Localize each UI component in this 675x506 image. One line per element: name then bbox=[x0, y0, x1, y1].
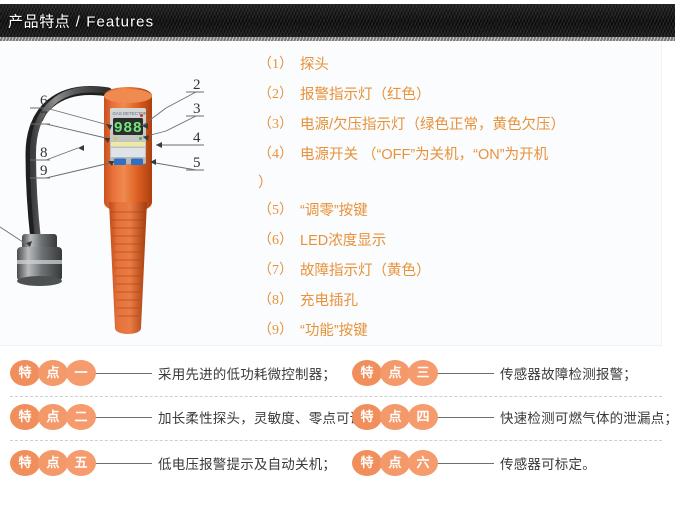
legend-number: （9） bbox=[258, 316, 300, 346]
feature-item-5: 特 点 五 低电压报警提示及自动关机； bbox=[10, 442, 350, 484]
gas-detector-illustration: GAS DETECTOR 988 bbox=[0, 44, 250, 340]
badge-char-te: 特 bbox=[10, 450, 40, 476]
legend-label: 充电插孔 bbox=[300, 286, 358, 316]
feature-item-1: 特 点 一 采用先进的低功耗微控制器； bbox=[10, 352, 350, 394]
badge-char-te: 特 bbox=[10, 404, 40, 430]
legend-label: 故障指示灯（黄色） bbox=[300, 256, 431, 286]
callout-number-4: 4 bbox=[193, 130, 201, 146]
badge-char-te: 特 bbox=[352, 404, 382, 430]
list-item: （1） 探头 bbox=[258, 50, 673, 80]
device-label-strip bbox=[111, 142, 145, 147]
badge-char-ordinal: 三 bbox=[408, 360, 438, 386]
function-button[interactable] bbox=[131, 159, 143, 166]
component-legend-list: （1） 探头 （2） 报警指示灯（红色） （3） 电源/欠压指示灯（绿色正常，黄… bbox=[258, 50, 673, 346]
feature-row: 特 点 一 采用先进的低功耗微控制器； 特 点 三 传感器故障检测报警； bbox=[0, 352, 675, 394]
legend-label: 电源开关 （“OFF”为关机，“ON”为开机 bbox=[300, 140, 548, 170]
probe-sensor-tip bbox=[17, 234, 62, 286]
section-header-banner: 产品特点 / Features bbox=[0, 4, 675, 37]
feature-text: 加长柔性探头，灵敏度、零点可调； bbox=[158, 407, 377, 427]
legend-number: （4） bbox=[258, 140, 300, 170]
legend-number: （2） bbox=[258, 80, 300, 110]
feature-badge: 特 点 五 bbox=[10, 450, 96, 476]
feature-text: 快速检测可燃气体的泄漏点； bbox=[500, 407, 675, 427]
list-item: （8） 充电插孔 bbox=[258, 286, 673, 316]
feature-leader-line bbox=[436, 463, 494, 464]
feature-text: 低电压报警提示及自动关机； bbox=[158, 453, 336, 473]
feature-row: 特 点 五 低电压报警提示及自动关机； 特 点 六 传感器可标定。 bbox=[0, 442, 675, 484]
list-item: （7） 故障指示灯（黄色） bbox=[258, 256, 673, 286]
list-item: （6） LED浓度显示 bbox=[258, 226, 673, 256]
list-item: （9） “功能”按键 bbox=[258, 316, 673, 346]
led-display-value: 988 bbox=[114, 120, 143, 137]
badge-char-ordinal: 四 bbox=[408, 404, 438, 430]
badge-char-dian: 点 bbox=[38, 360, 68, 386]
feature-item-3: 特 点 三 传感器故障检测报警； bbox=[352, 352, 675, 394]
features-page: 产品特点 / Features bbox=[0, 0, 675, 506]
feature-badge: 特 点 六 bbox=[352, 450, 438, 476]
feature-leader-line bbox=[436, 373, 494, 374]
badge-char-dian: 点 bbox=[380, 360, 410, 386]
badge-char-dian: 点 bbox=[380, 450, 410, 476]
legend-label: “功能”按键 bbox=[300, 316, 368, 346]
feature-text: 传感器故障检测报警； bbox=[500, 363, 637, 383]
callout-number-2: 2 bbox=[193, 77, 201, 93]
feature-item-4: 特 点 四 快速检测可燃气体的泄漏点； bbox=[352, 396, 675, 438]
feature-leader-line bbox=[436, 417, 494, 418]
legend-label-continuation: ） bbox=[258, 170, 673, 196]
feature-leader-line bbox=[94, 463, 152, 464]
legend-number: （1） bbox=[258, 50, 300, 80]
callout-number-8: 8 bbox=[40, 145, 48, 161]
badge-char-dian: 点 bbox=[380, 404, 410, 430]
feature-badge: 特 点 三 bbox=[352, 360, 438, 386]
feature-row: 特 点 二 加长柔性探头，灵敏度、零点可调； 特 点 四 快速检测可燃气体的泄漏… bbox=[0, 396, 675, 438]
list-item: （5） “调零”按键 bbox=[258, 196, 673, 226]
page-title-en: Features bbox=[86, 13, 154, 30]
callout-number-6: 6 bbox=[40, 93, 48, 109]
device-instruction-strip bbox=[111, 148, 145, 157]
badge-char-te: 特 bbox=[10, 360, 40, 386]
feature-text: 传感器可标定。 bbox=[500, 453, 596, 473]
legend-number: （7） bbox=[258, 256, 300, 286]
badge-char-ordinal: 六 bbox=[408, 450, 438, 476]
page-title: 产品特点 / Features bbox=[8, 10, 154, 31]
badge-char-dian: 点 bbox=[38, 404, 68, 430]
feature-item-6: 特 点 六 传感器可标定。 bbox=[352, 442, 675, 484]
legend-label: LED浓度显示 bbox=[300, 226, 386, 256]
badge-char-ordinal: 二 bbox=[66, 404, 96, 430]
feature-leader-line bbox=[94, 417, 152, 418]
legend-number: （5） bbox=[258, 196, 300, 226]
feature-leader-line bbox=[94, 373, 152, 374]
callout-number-3: 3 bbox=[193, 101, 201, 117]
badge-char-te: 特 bbox=[352, 360, 382, 386]
power-indicator-lamp bbox=[139, 137, 142, 140]
feature-grid: 特 点 一 采用先进的低功耗微控制器； 特 点 三 传感器故障检测报警； bbox=[0, 352, 675, 506]
zero-adjust-button[interactable] bbox=[114, 159, 126, 166]
callout-number-7: 7 bbox=[40, 109, 48, 125]
list-item: （4） 电源开关 （“OFF”为关机，“ON”为开机 bbox=[258, 140, 673, 170]
legend-label: 报警指示灯（红色） bbox=[300, 80, 431, 110]
legend-label: 探头 bbox=[300, 50, 329, 80]
legend-number: （8） bbox=[258, 286, 300, 316]
feature-badge: 特 点 四 bbox=[352, 404, 438, 430]
legend-number: （6） bbox=[258, 226, 300, 256]
callout-number-9: 9 bbox=[40, 163, 48, 179]
legend-label: “调零”按键 bbox=[300, 196, 368, 226]
badge-char-ordinal: 一 bbox=[66, 360, 96, 386]
fault-indicator-lamp bbox=[114, 137, 117, 140]
page-title-cn: 产品特点 bbox=[8, 13, 70, 30]
list-item: （3） 电源/欠压指示灯（绿色正常，黄色欠压） bbox=[258, 110, 673, 140]
badge-char-dian: 点 bbox=[38, 450, 68, 476]
feature-item-2: 特 点 二 加长柔性探头，灵敏度、零点可调； bbox=[10, 396, 350, 438]
feature-row-separator bbox=[10, 440, 662, 441]
product-figure: GAS DETECTOR 988 bbox=[0, 44, 250, 340]
feature-badge: 特 点 一 bbox=[10, 360, 96, 386]
legend-number: （3） bbox=[258, 110, 300, 140]
callout-number-5: 5 bbox=[193, 155, 201, 171]
feature-text: 采用先进的低功耗微控制器； bbox=[158, 363, 336, 383]
alarm-indicator-lamp bbox=[140, 114, 143, 117]
badge-char-te: 特 bbox=[352, 450, 382, 476]
legend-label: 电源/欠压指示灯（绿色正常，黄色欠压） bbox=[300, 110, 565, 140]
page-title-separator: / bbox=[70, 13, 86, 30]
badge-char-ordinal: 五 bbox=[66, 450, 96, 476]
device-top-cap bbox=[104, 89, 152, 103]
list-item: （2） 报警指示灯（红色） bbox=[258, 80, 673, 110]
feature-badge: 特 点 二 bbox=[10, 404, 96, 430]
